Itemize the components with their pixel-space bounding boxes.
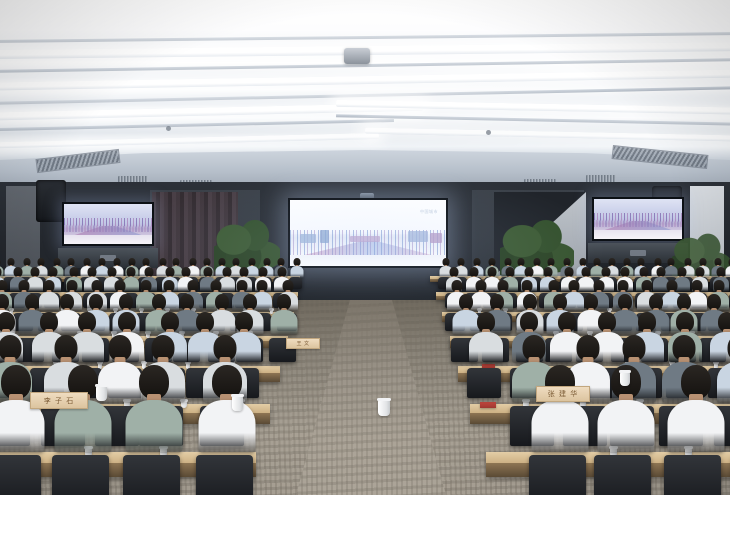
tea-mug [232, 396, 243, 411]
chair[interactable] [0, 455, 41, 495]
chair[interactable] [123, 455, 180, 495]
ceiling-light-strip [0, 69, 730, 91]
ceiling-rail [0, 119, 394, 132]
screen-foreground [594, 230, 682, 239]
chair[interactable] [529, 455, 586, 495]
left-side-display[interactable] [62, 202, 154, 246]
projector-mount-icon [344, 48, 370, 64]
red-booklet [480, 402, 496, 408]
mug-lid [619, 370, 631, 373]
attendee [55, 365, 111, 460]
attendee-torso [469, 332, 503, 363]
ceiling-light-strip [365, 128, 730, 143]
screen-building [320, 230, 329, 243]
nameplate-text: 李 子 石 [44, 396, 74, 406]
right-side-display[interactable] [592, 197, 684, 241]
chair[interactable] [467, 368, 501, 398]
chair[interactable] [594, 455, 651, 495]
ceiling-rail [0, 32, 730, 43]
attendee [0, 365, 44, 460]
attendee [126, 365, 182, 460]
attendee-torso [598, 400, 655, 453]
screen-building [408, 231, 428, 242]
attendee [271, 294, 297, 338]
attendee-torso [126, 400, 183, 453]
screen-foreground [64, 235, 152, 244]
tea-mug [96, 386, 107, 401]
attendee-head [0, 267, 2, 277]
tea-mug [378, 400, 390, 416]
nameplate-text: 王 文 [296, 340, 309, 347]
nameplate-left-front: 李 子 石 [30, 392, 88, 409]
ceiling-light-strip [0, 133, 380, 149]
screen-building [350, 236, 380, 242]
screen-building [300, 234, 316, 243]
page-root: 中国城市 李 子 石张 建 华王 文 [0, 0, 730, 548]
chair[interactable] [52, 455, 109, 495]
attendee [668, 365, 724, 460]
attendee [199, 365, 255, 460]
mug-lid [95, 384, 108, 387]
attendee-torso [199, 400, 256, 453]
tea-mug [620, 372, 630, 386]
ceiling-light-strip [336, 100, 730, 115]
attendee [469, 312, 502, 368]
mug-lid [231, 394, 244, 397]
attendee-torso [271, 310, 298, 335]
screen-foreground [290, 255, 446, 266]
mug-lid [377, 398, 391, 401]
chair[interactable] [664, 455, 721, 495]
main-led-wall[interactable]: 中国城市 [288, 198, 448, 268]
nameplate-text: 张 建 华 [548, 389, 578, 399]
nameplate-right-front: 张 建 华 [536, 386, 590, 402]
screen-logo-text: 中国城市 [420, 209, 438, 215]
screen-building [430, 233, 442, 243]
screen-sky [290, 200, 446, 234]
ceiling-sensor-icon [486, 130, 491, 135]
attendee [532, 365, 588, 460]
chair[interactable] [196, 455, 253, 495]
nameplate-right-mid: 王 文 [286, 338, 320, 349]
ceiling-rail [336, 114, 730, 126]
conference-room-photograph: 中国城市 李 子 石张 建 华王 文 [0, 0, 730, 495]
attendee-torso [668, 400, 725, 453]
attendee-torso [532, 400, 589, 453]
display-badge [630, 250, 646, 256]
ceiling-sensor-icon [166, 126, 171, 131]
